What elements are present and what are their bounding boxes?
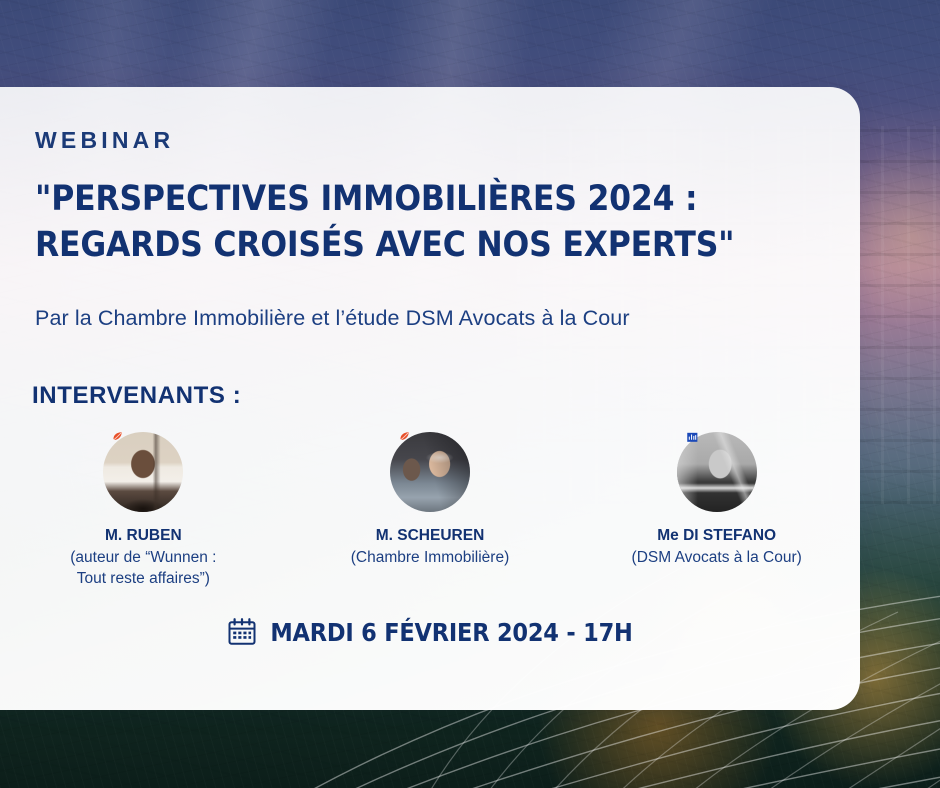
speaker-card: Me DI STEFANO (DSM Avocats à la Cour) — [573, 432, 860, 569]
speaker-role: (DSM Avocats à la Cour) — [632, 548, 802, 569]
eyebrow-label: WEBINAR — [35, 127, 174, 154]
speaker-name: M. RUBEN — [105, 527, 182, 545]
subtitle: Par la Chambre Immobilière et l’étude DS… — [35, 306, 630, 331]
speaker-role: (auteur de “Wunnen : Tout reste affaires… — [70, 548, 216, 590]
speakers-list: M. RUBEN (auteur de “Wunnen : Tout reste… — [0, 432, 860, 590]
blue-chart-badge-icon — [685, 430, 700, 445]
content-card: WEBINAR "PERSPECTIVES IMMOBILIÈRES 2024 … — [0, 87, 860, 710]
orange-leaf-badge-icon — [398, 430, 413, 445]
speaker-card: M. RUBEN (auteur de “Wunnen : Tout reste… — [0, 432, 287, 590]
speaker-name: M. SCHEUREN — [376, 527, 485, 545]
avatar-wrap — [677, 432, 757, 512]
event-date-row: MARDI 6 FÉVRIER 2024 - 17H — [0, 617, 860, 647]
event-date-text: MARDI 6 FÉVRIER 2024 - 17H — [270, 618, 632, 647]
webinar-poster: WEBINAR "PERSPECTIVES IMMOBILIÈRES 2024 … — [0, 0, 940, 788]
orange-leaf-badge-icon — [111, 430, 126, 445]
speakers-heading: INTERVENANTS : — [32, 382, 241, 410]
speaker-role: (Chambre Immobilière) — [351, 548, 509, 569]
title-line-2: REGARDS CROISÉS AVEC NOS EXPERTS" — [35, 222, 825, 268]
page-title: "PERSPECTIVES IMMOBILIÈRES 2024 : REGARD… — [35, 176, 825, 268]
avatar-wrap — [103, 432, 183, 512]
avatar-wrap — [390, 432, 470, 512]
speaker-name: Me DI STEFANO — [657, 527, 776, 545]
speaker-card: M. SCHEUREN (Chambre Immobilière) — [287, 432, 574, 569]
calendar-icon — [227, 617, 257, 647]
title-line-1: "PERSPECTIVES IMMOBILIÈRES 2024 : — [35, 176, 825, 222]
